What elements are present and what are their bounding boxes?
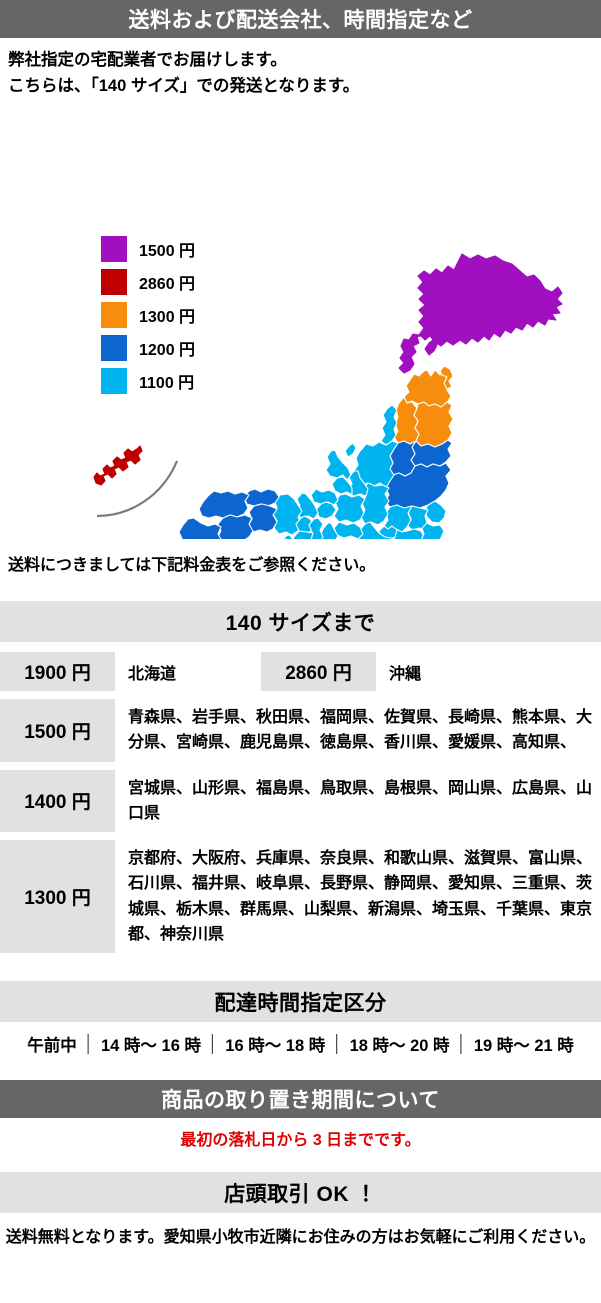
map-legend: 1500 円 2860 円 1300 円 1200 円 1100 円 [101,232,195,397]
region-hiroshima [217,515,253,539]
region-tottori [244,489,279,506]
legend-swatch-2860 [101,269,127,295]
legend-label-2860: 2860 円 [139,270,195,294]
fee-price-1400: 1400 円 [0,770,115,833]
region-awaji [282,535,293,539]
region-shiga [316,502,336,519]
legend-label-1300: 1300 円 [139,303,195,327]
fee-region-okinawa: 沖縄 [376,652,431,691]
hold-period-notice: 最初の落札日から 3 日までです。 [0,1118,601,1158]
intro-text: 弊社指定の宅配業者でお届けします。 こちらは、「140 サイズ」での発送となりま… [0,38,601,99]
intro-line-2: こちらは、「140 サイズ」での発送となります。 [8,74,593,100]
fee-price-1300: 1300 円 [0,840,115,953]
fee-row-special: 1900 円 北海道 2860 円 沖縄 [0,652,601,691]
store-pickup-note: 送料無料となります。愛知県小牧市近隣にお住みの方はお気軽にご利用ください。 [0,1213,601,1257]
region-akita [394,397,419,444]
page-title: 送料および配送会社、時間指定など [129,4,473,34]
region-shimane [199,491,249,518]
legend-swatch-1500 [101,236,127,262]
legend-label-1500: 1500 円 [139,237,195,261]
time-slot-separator: │ [77,1035,101,1054]
time-slot-morning: 午前中 [27,1032,77,1056]
fee-regions-1300: 京都府、大阪府、兵庫県、奈良県、和歌山県、滋賀県、富山県、石川県、福井県、岐阜県… [115,840,601,953]
hold-period-notice-text: 最初の落札日から 3 日までです。 [180,1126,420,1150]
fee-price-1500: 1500 円 [0,699,115,762]
region-gifu [334,494,365,523]
table-row: 1400 円 宮城県、山形県、福島県、鳥取県、島根県、岡山県、広島県、山口県 [0,770,601,833]
time-slot-16-18: 16 時～ 18 時 [225,1032,325,1056]
hold-period-title: 商品の取り置き期間について [161,1084,440,1114]
fee-table-title-bar: 140 サイズまで [0,601,601,642]
table-row: 1500 円 青森県、岩手県、秋田県、福岡県、佐賀県、長崎県、熊本県、大分県、宮… [0,699,601,762]
time-slot-18-20: 18 時～ 20 時 [350,1032,450,1056]
time-slot-19-21: 19 時～ 21 時 [474,1032,574,1056]
region-niigata-coast [381,405,397,445]
region-yamaguchi [179,518,222,539]
time-slot-separator: │ [325,1035,349,1054]
fee-reference-note-text: 送料につきましては下記料金表をご参照ください。 [8,551,375,575]
legend-item-1300: 1300 円 [101,298,195,331]
legend-swatch-1200 [101,335,127,361]
fee-region-hokkaido: 北海道 [115,652,186,691]
store-pickup-note-text: 送料無料となります。愛知県小牧市近隣にお住みの方はお気軽にご利用ください。 [6,1223,596,1247]
legend-item-2860: 2860 円 [101,265,195,298]
store-pickup-title: 店頭取引 OK ！ [224,1178,377,1208]
fee-reference-note: 送料につきましては下記料金表をご参照ください。 [0,539,601,587]
region-gunma [384,505,412,532]
fee-regions-1400: 宮城県、山形県、福島県、鳥取県、島根県、岡山県、広島県、山口県 [115,770,601,833]
region-chiba [421,523,444,539]
delivery-time-title: 配達時間指定区分 [215,987,387,1017]
legend-item-1200: 1200 円 [101,331,195,364]
store-pickup-title-bar: 店頭取引 OK ！ [0,1172,601,1213]
page-title-bar: 送料および配送会社、時間指定など [0,0,601,38]
table-row: 1300 円 京都府、大阪府、兵庫県、奈良県、和歌山県、滋賀県、富山県、石川県、… [0,840,601,953]
region-okinawa [94,446,142,485]
legend-item-1500: 1500 円 [101,232,195,265]
delivery-time-title-bar: 配達時間指定区分 [0,981,601,1022]
region-hokkaido-cape [425,340,437,355]
legend-swatch-1100 [101,368,127,394]
region-hokkaido-peninsula [399,328,424,373]
fee-regions-1500: 青森県、岩手県、秋田県、福岡県、佐賀県、長崎県、熊本県、大分県、宮崎県、鹿児島県… [115,699,601,762]
hold-period-title-bar: 商品の取り置き期間について [0,1080,601,1118]
time-slot-14-16: 14 時～ 16 時 [101,1032,201,1056]
intro-line-1: 弊社指定の宅配業者でお届けします。 [8,48,593,74]
time-slot-separator: │ [450,1035,474,1054]
shipping-zone-map: 1500 円 2860 円 1300 円 1200 円 1100 円 [0,99,601,539]
legend-label-1100: 1100 円 [139,369,194,393]
region-ibaraki [425,501,446,523]
japan-map-svg [0,99,601,539]
legend-swatch-1300 [101,302,127,328]
region-hokkaido [418,254,562,346]
region-ishikawa [332,477,352,495]
fee-price-1900: 1900 円 [0,652,115,691]
fee-table-title: 140 サイズまで [226,607,376,637]
region-sado-island [345,443,356,457]
legend-label-1200: 1200 円 [139,336,195,360]
fee-price-2860: 2860 円 [261,652,376,691]
legend-item-1100: 1100 円 [101,364,195,397]
fee-table: 1900 円 北海道 2860 円 沖縄 1500 円 青森県、岩手県、秋田県、… [0,652,601,953]
delivery-time-slots: 午前中 │ 14 時～ 16 時 │ 16 時～ 18 時 │ 18 時～ 20… [0,1022,601,1066]
time-slot-separator: │ [201,1035,225,1054]
